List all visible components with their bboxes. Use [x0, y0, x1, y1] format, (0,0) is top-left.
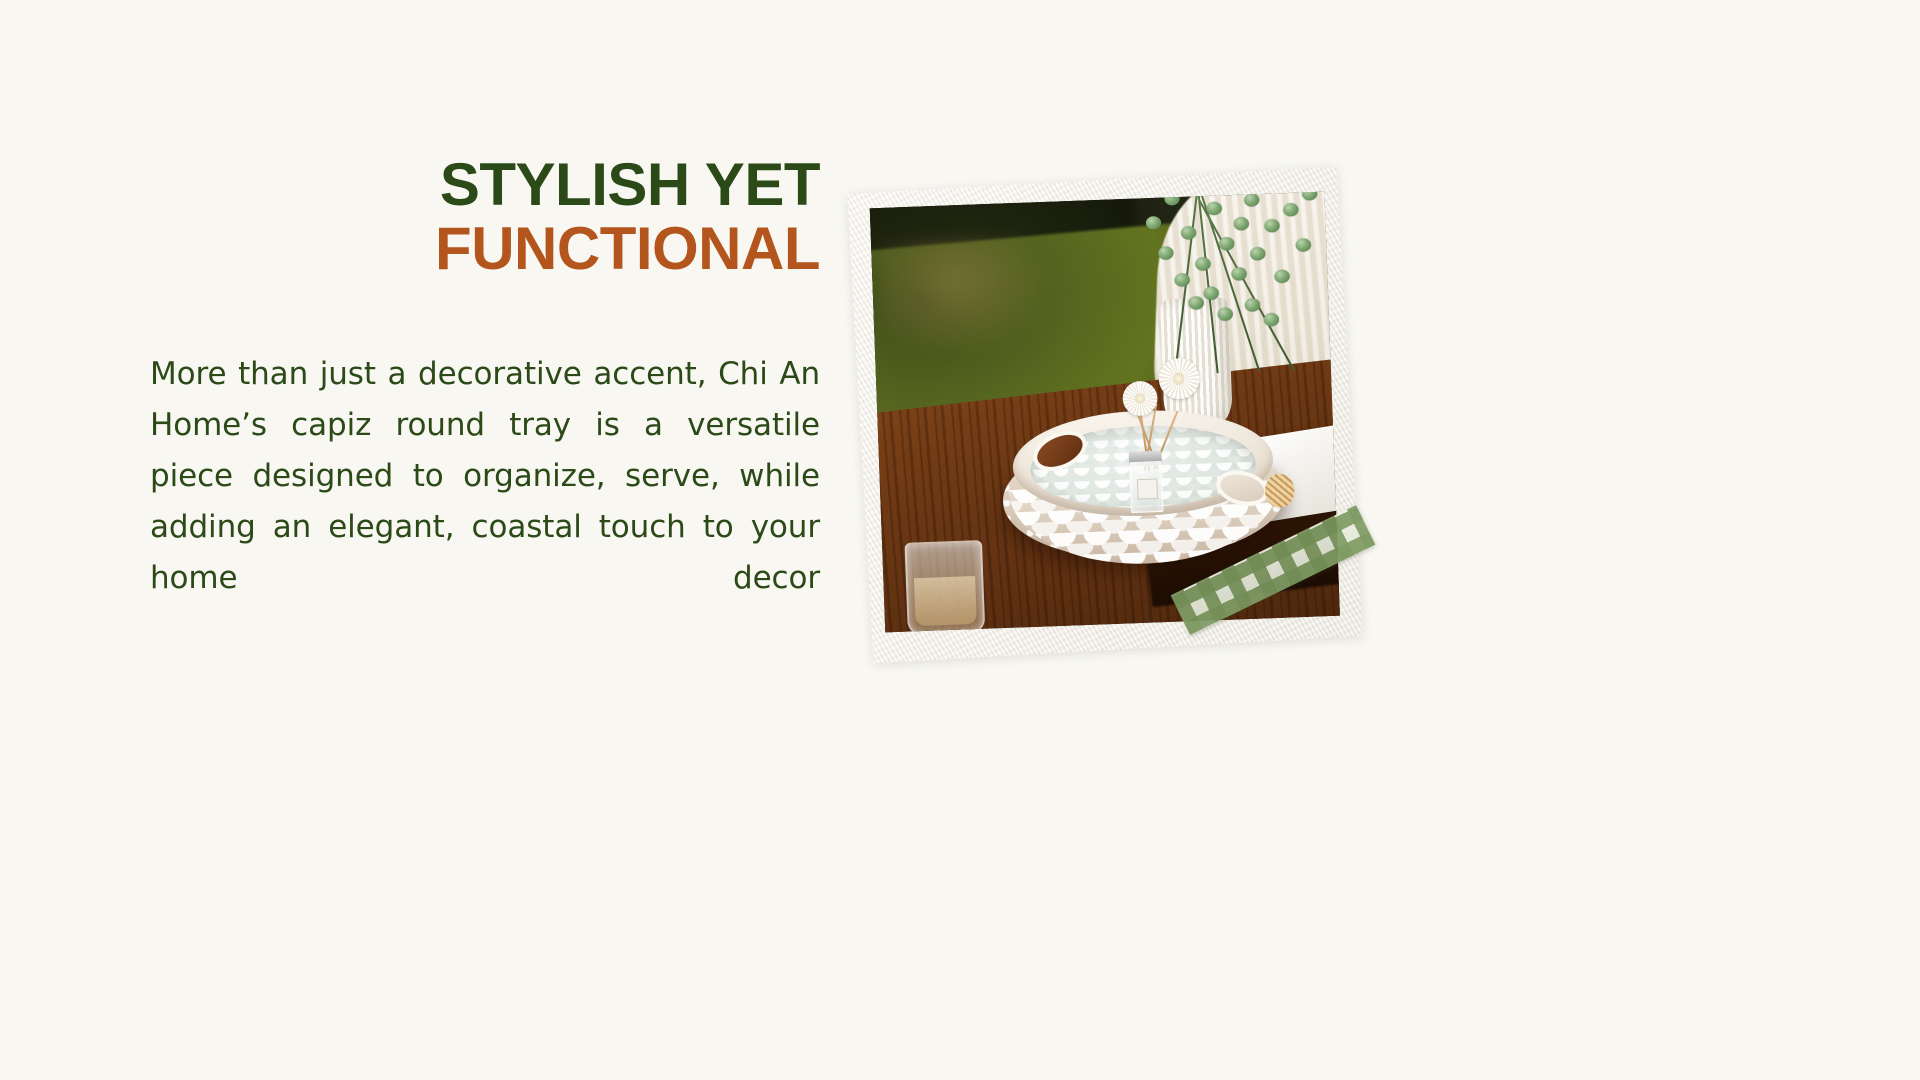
- headline-line-accent: FUNCTIONAL: [150, 219, 820, 279]
- body-paragraph: More than just a decorative accent, Chi …: [150, 349, 820, 655]
- headline-line-primary: STYLISH YET: [150, 155, 820, 215]
- diffuser-label: [1137, 478, 1158, 500]
- page-title: STYLISH YET FUNCTIONAL: [150, 155, 820, 279]
- polaroid-frame: [847, 167, 1362, 664]
- table-highlight: [880, 233, 1120, 352]
- text-column: STYLISH YET FUNCTIONAL More than just a …: [150, 155, 820, 655]
- eucalyptus-sprigs: [1133, 192, 1331, 377]
- water-glass: [905, 540, 986, 633]
- product-photo-area: [840, 150, 1440, 730]
- glass-liquid: [914, 576, 977, 626]
